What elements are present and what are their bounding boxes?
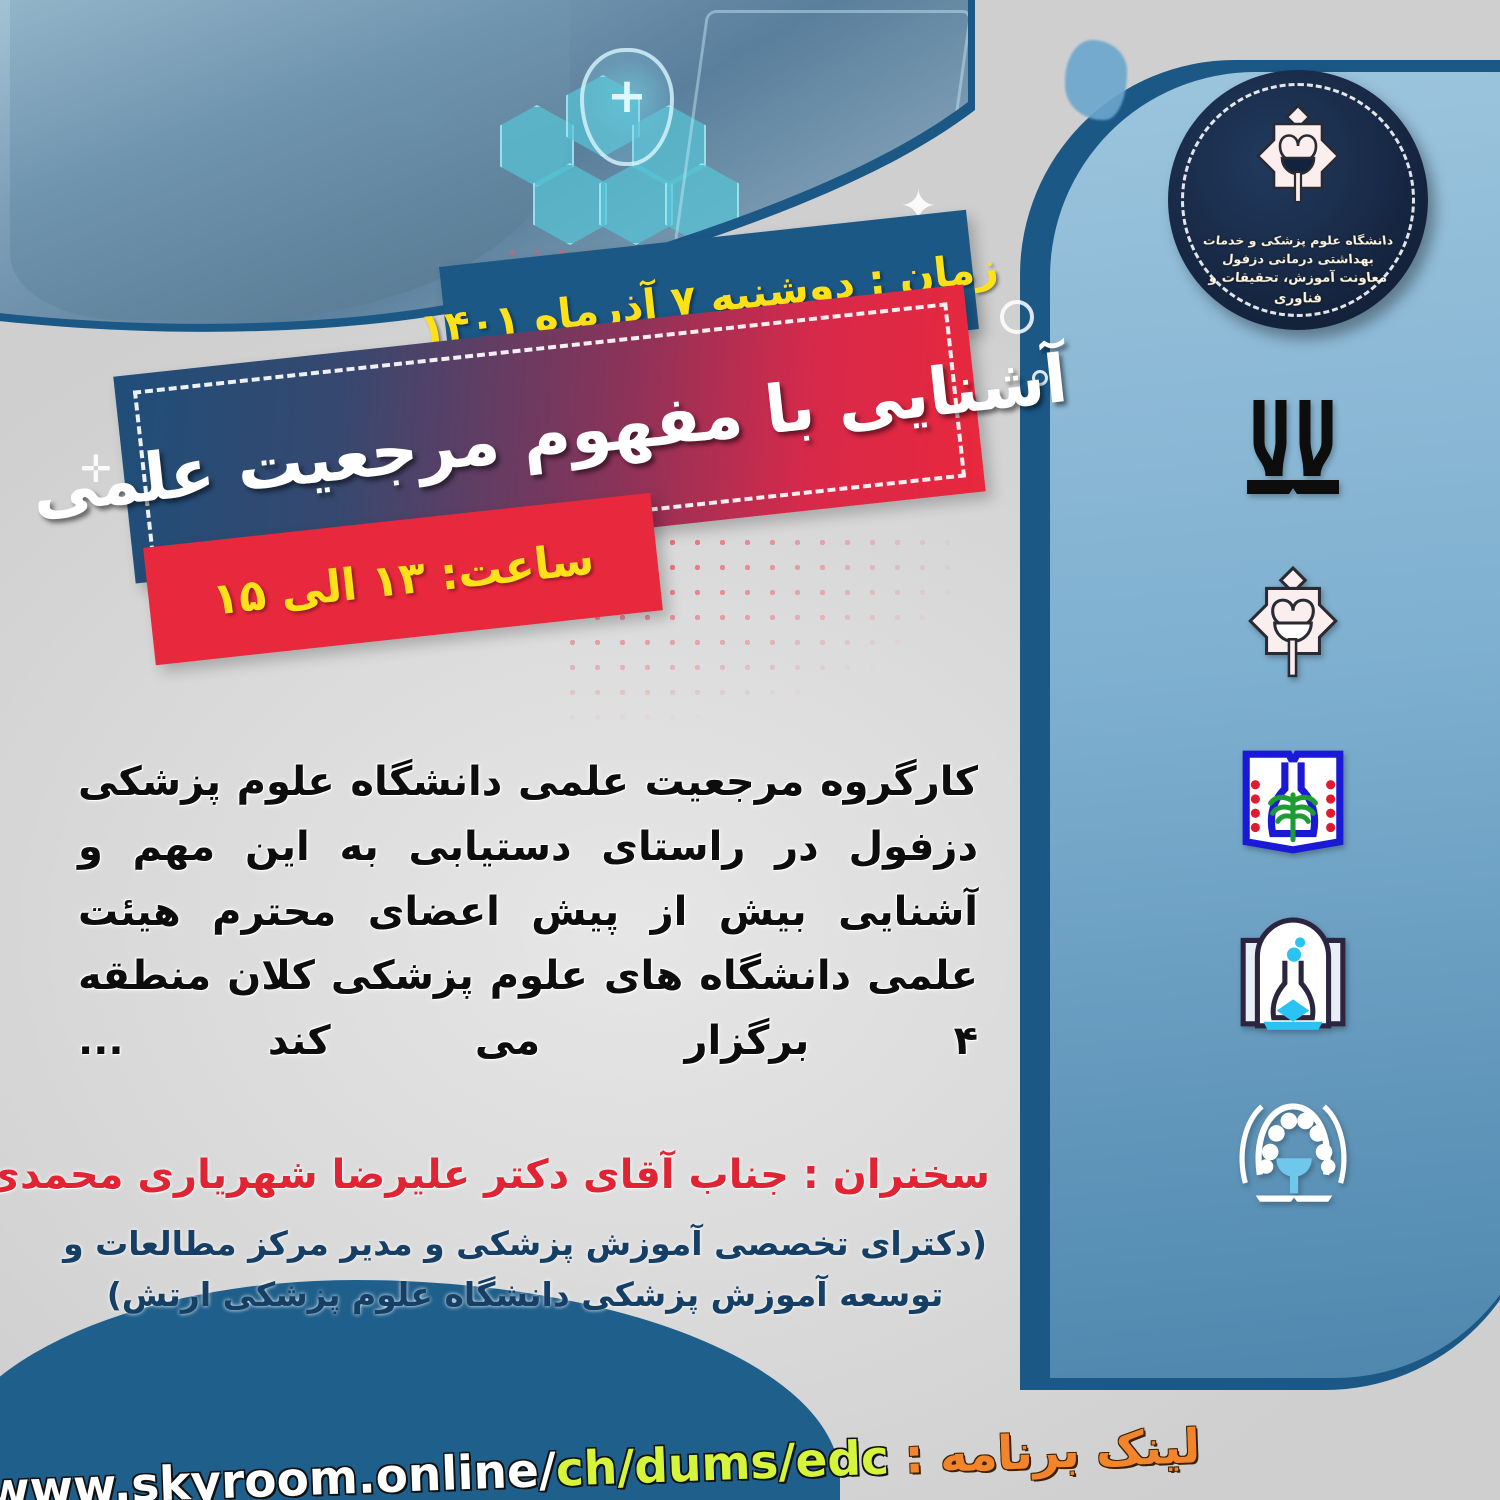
- speaker-name: سخنران : جناب آقای دکتر علیرضا شهریاری م…: [60, 1152, 990, 1198]
- badge-line-2: معاونت آموزش، تحقیقات و فناوری: [1180, 269, 1415, 309]
- program-link-label: لینک برنامه :: [904, 1419, 1201, 1485]
- ring-icon-1: [1000, 300, 1034, 334]
- time-banner-text: ساعت: ۱۳ الی ۱۵: [210, 533, 597, 625]
- dome-chalice-book-icon: [1230, 1094, 1356, 1214]
- blue-blob-decoration: [1065, 40, 1127, 120]
- body-paragraph: کارگروه مرجعیت علمی دانشگاه علوم پزشکی د…: [78, 750, 978, 1074]
- book-palm-flask-icon: [1237, 740, 1349, 862]
- badge-line-1: دانشگاه علوم پزشکی و خدمات بهداشتی درمان…: [1186, 233, 1410, 269]
- medical-tulip-cup-icon: [1237, 564, 1349, 686]
- university-badge: دانشگاه علوم پزشکی و خدمات بهداشتی درمان…: [1168, 70, 1428, 330]
- badge-medical-emblem-icon: [1244, 102, 1352, 216]
- hands-book-emblem-icon: [1237, 390, 1349, 510]
- link-url-highlight: ch/dums/edc: [555, 1430, 890, 1497]
- book-arch-flask-icon: [1236, 916, 1350, 1040]
- link-url-prefix: https://www.skyroom.online/: [0, 1442, 557, 1500]
- poster-root: ✦ ✕ ✕ ✧ ✛ دانشگاه علوم پزشکی و خدمات بهد…: [0, 0, 1500, 1500]
- badge-text: دانشگاه علوم پزشکی و خدمات بهداشتی درمان…: [1162, 233, 1435, 309]
- partner-logo-column: [1218, 390, 1368, 1214]
- speaker-credentials: (دکترای تخصصی آموزش پزشکی و مدیر مرکز مط…: [60, 1218, 990, 1320]
